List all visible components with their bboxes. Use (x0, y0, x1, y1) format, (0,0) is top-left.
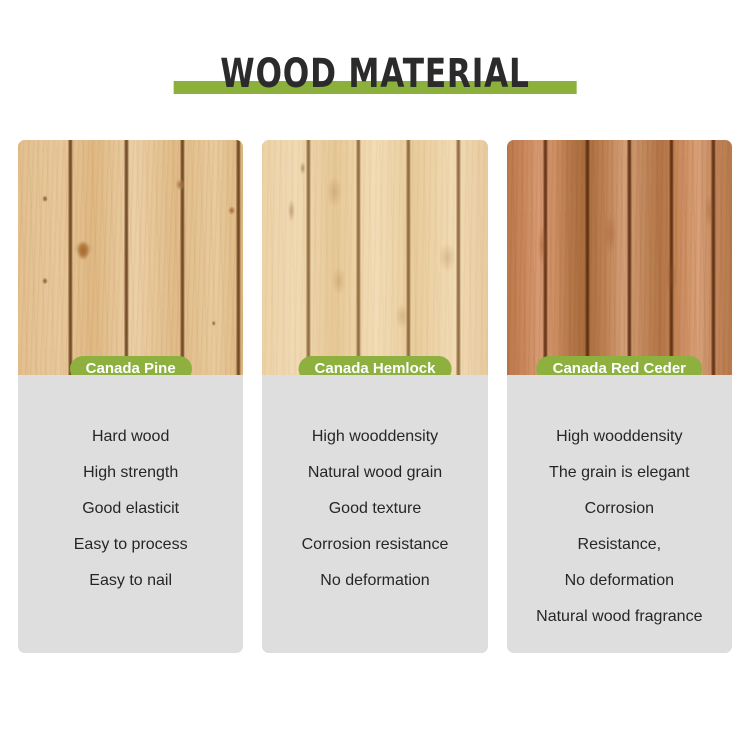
page-title-block: WOOD MATERIAL (0, 48, 750, 108)
feature-item: Good texture (329, 491, 422, 527)
wood-card-canada-pine[interactable]: Canada Pine Hard wood High strength Good… (18, 140, 243, 653)
wood-card-badge-canada-hemlock: Canada Hemlock (299, 356, 452, 375)
feature-item: Corrosion (585, 491, 654, 527)
wood-knot-marks (507, 140, 732, 375)
wood-card-canada-red-ceder[interactable]: Canada Red Ceder High wooddensity The gr… (507, 140, 732, 653)
wood-material-card-row: Canada Pine Hard wood High strength Good… (18, 140, 732, 653)
wood-knot-marks (262, 140, 487, 375)
feature-item: Easy to nail (89, 563, 172, 599)
wood-knot-marks (18, 140, 243, 375)
canada-pine-wood-swatch: Canada Pine (18, 140, 243, 375)
wood-card-badge-canada-pine: Canada Pine (70, 356, 192, 375)
feature-list-canada-red-ceder: High wooddensity The grain is elegant Co… (507, 375, 732, 653)
feature-item: No deformation (565, 563, 674, 599)
feature-item: Easy to process (74, 527, 188, 563)
feature-item: Natural wood grain (308, 455, 442, 491)
page-title: WOOD MATERIAL (218, 48, 532, 100)
feature-list-canada-hemlock: High wooddensity Natural wood grain Good… (262, 375, 487, 653)
feature-item: High wooddensity (312, 419, 438, 455)
canada-hemlock-wood-swatch: Canada Hemlock (262, 140, 487, 375)
wood-card-badge-canada-red-ceder: Canada Red Ceder (537, 356, 702, 375)
page-title-inner: WOOD MATERIAL (174, 48, 577, 100)
canada-red-cedar-wood-swatch: Canada Red Ceder (507, 140, 732, 375)
feature-item: Corrosion resistance (302, 527, 449, 563)
feature-item: Natural wood fragrance (536, 599, 702, 635)
wood-card-canada-hemlock[interactable]: Canada Hemlock High wooddensity Natural … (262, 140, 487, 653)
feature-list-canada-pine: Hard wood High strength Good elasticit E… (18, 375, 243, 653)
feature-item: High wooddensity (556, 419, 682, 455)
feature-item: Resistance, (578, 527, 662, 563)
feature-item: High strength (83, 455, 178, 491)
feature-item: No deformation (320, 563, 429, 599)
feature-item: The grain is elegant (549, 455, 690, 491)
feature-item: Hard wood (92, 419, 169, 455)
feature-item: Good elasticit (82, 491, 179, 527)
